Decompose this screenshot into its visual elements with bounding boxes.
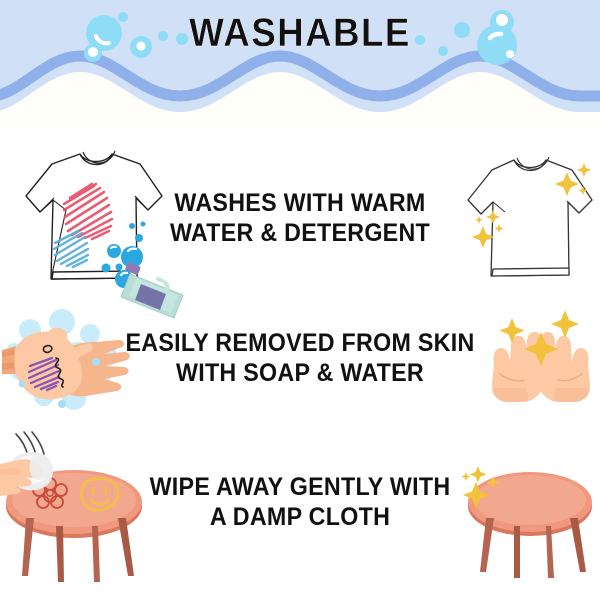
- washable-infographic: WASHABLE: [0, 0, 600, 600]
- row-skin: EASILY REMOVED FROM SKIN WITH SOAP & WAT…: [0, 300, 600, 435]
- header-banner: WASHABLE: [0, 0, 600, 128]
- row-wipe: WIPE AWAY GENTLY WITH A DAMP CLOTH: [0, 430, 600, 600]
- clean-table-with-sparkles: [452, 448, 600, 598]
- clean-hands-with-sparkles: [482, 302, 600, 432]
- row-wipe-text: WIPE AWAY GENTLY WITH A DAMP CLOTH: [133, 472, 468, 532]
- clean-tshirt-with-sparkles: [466, 148, 596, 298]
- page-title: WASHABLE: [24, 11, 576, 55]
- row-washes: WASHES WITH WARM WATER & DETERGENT: [0, 130, 600, 310]
- row-skin-text: EASILY REMOVED FROM SKIN WITH SOAP & WAT…: [109, 328, 490, 388]
- row-washes-text: WASHES WITH WARM WATER & DETERGENT: [123, 188, 476, 248]
